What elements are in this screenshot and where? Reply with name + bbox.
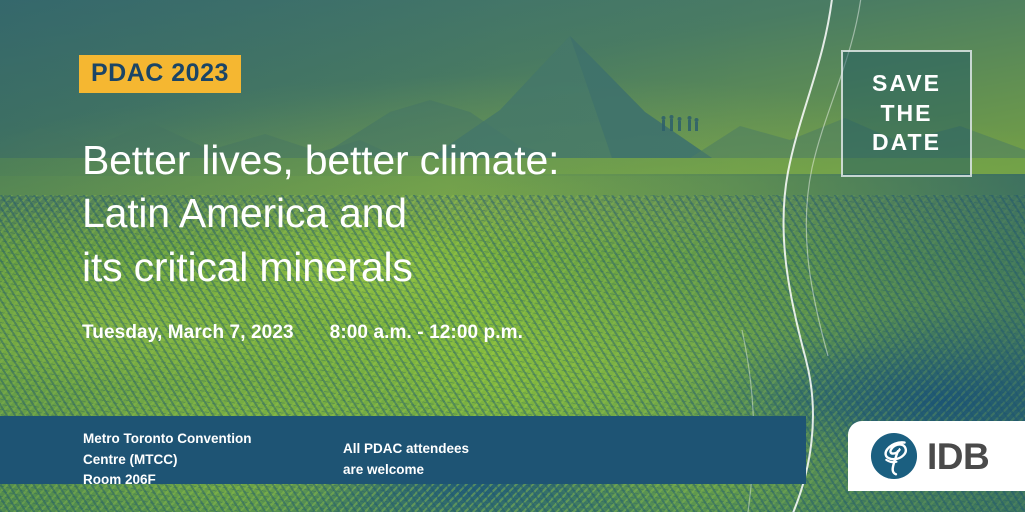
- venue-line-1: Metro Toronto Convention: [83, 429, 251, 450]
- save-the-date-line-3: DATE: [872, 128, 941, 158]
- event-banner: PDAC 2023 Better lives, better climate: …: [0, 0, 1025, 512]
- idb-logo-icon: [870, 432, 918, 480]
- save-the-date-line-2: THE: [881, 99, 933, 129]
- event-datetime: Tuesday, March 7, 2023 8:00 a.m. - 12:00…: [82, 322, 523, 344]
- idb-wordmark: IDB: [927, 438, 989, 475]
- event-time: 8:00 a.m. - 12:00 p.m.: [330, 322, 523, 344]
- welcome-line-2: are welcome: [343, 460, 469, 481]
- event-date: Tuesday, March 7, 2023: [82, 322, 294, 344]
- pdac-badge: PDAC 2023: [79, 55, 241, 93]
- attendee-note: All PDAC attendees are welcome: [343, 439, 469, 480]
- idb-logo-panel: IDB: [848, 421, 1025, 491]
- venue-address: Metro Toronto Convention Centre (MTCC) R…: [83, 429, 251, 491]
- save-the-date-box: SAVE THE DATE: [841, 50, 972, 177]
- save-the-date-line-1: SAVE: [872, 69, 941, 99]
- headline-line-2: Latin America and: [82, 187, 559, 240]
- info-bar: Metro Toronto Convention Centre (MTCC) R…: [0, 416, 806, 484]
- background-figures: [662, 115, 699, 131]
- page-title: Better lives, better climate: Latin Amer…: [82, 134, 559, 294]
- headline-line-3: its critical minerals: [82, 241, 559, 294]
- welcome-line-1: All PDAC attendees: [343, 439, 469, 460]
- venue-line-3: Room 206F: [83, 470, 251, 491]
- venue-line-2: Centre (MTCC): [83, 450, 251, 471]
- headline-line-1: Better lives, better climate:: [82, 134, 559, 187]
